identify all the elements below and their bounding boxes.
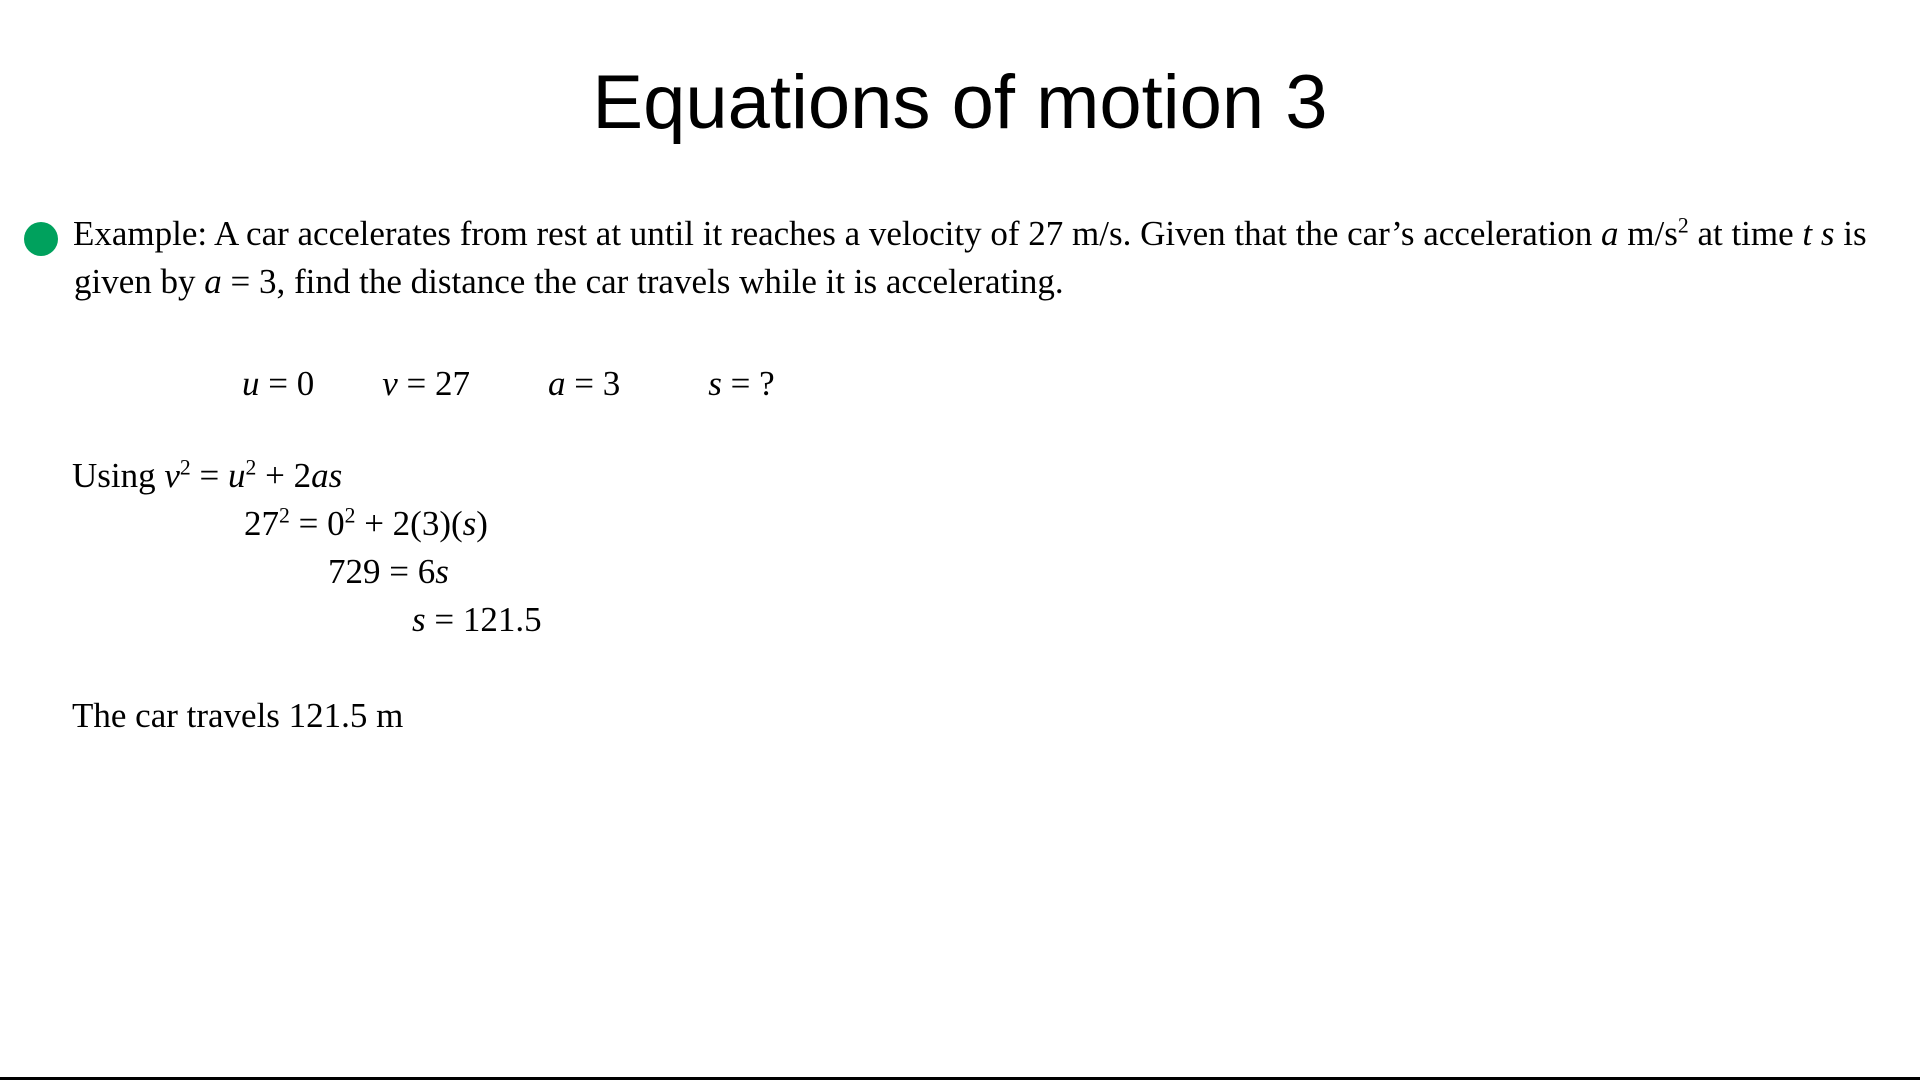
given-values-row: u = 0v = 27a = 3s = ? <box>0 360 1920 408</box>
working-v: v <box>164 456 180 495</box>
given-v: v = 27 <box>382 360 470 408</box>
given-a-value: = 3 <box>566 364 621 403</box>
working-eq-2: = 0 <box>290 504 345 543</box>
working-s-4: s <box>412 600 426 639</box>
working-close-paren: ) <box>476 504 488 543</box>
example-var-t: t s <box>1802 214 1834 253</box>
working-729: 729 = 6 <box>328 552 435 591</box>
given-v-var: v <box>382 364 398 403</box>
working-line-2: 272 = 02 + 2(3)(s) <box>244 500 1920 548</box>
example-bullet-item: Example: A car accelerates from rest at … <box>0 210 1920 306</box>
given-s-var: s <box>708 364 722 403</box>
conclusion-text: The car travels 121.5 m <box>72 692 403 740</box>
example-text-part-3: at time <box>1689 214 1803 253</box>
working-using-label: Using <box>72 456 164 495</box>
working-0-sup: 2 <box>345 503 356 527</box>
example-sup-2-1: 2 <box>1678 213 1689 237</box>
example-var-a-2: a <box>204 262 222 301</box>
slide-canvas: Equations of motion 3 Example: A car acc… <box>0 0 1920 1080</box>
given-u: u = 0 <box>242 360 314 408</box>
example-var-a-1: a <box>1601 214 1619 253</box>
working-eq-1: = <box>191 456 228 495</box>
working-v-sup: 2 <box>180 455 191 479</box>
given-a-var: a <box>548 364 566 403</box>
example-text-part-5: = 3, find the distance the car travels w… <box>222 262 1064 301</box>
working-line-3: 729 = 6s <box>328 548 1920 596</box>
working-u: u <box>228 456 246 495</box>
given-v-value: = 27 <box>398 364 470 403</box>
working-s-2: s <box>463 504 477 543</box>
given-a: a = 3 <box>548 360 620 408</box>
green-circle-bullet-icon <box>24 222 58 256</box>
working-line-1: Using v2 = u2 + 2as <box>72 452 1920 500</box>
slide-body: Example: A car accelerates from rest at … <box>0 210 1920 306</box>
working-plus-2: + 2(3)( <box>355 504 462 543</box>
working-u-sup: 2 <box>246 455 257 479</box>
working-s-value: = 121.5 <box>426 600 542 639</box>
page-title: Equations of motion 3 <box>0 58 1920 148</box>
working-as: as <box>311 456 342 495</box>
working-plus-1: + 2 <box>256 456 311 495</box>
working-s-3: s <box>435 552 449 591</box>
working-line-4: s = 121.5 <box>412 596 1920 644</box>
working-lhs-27: 27 <box>244 504 279 543</box>
given-values-inner: u = 0v = 27a = 3s = ? <box>242 360 1920 408</box>
given-u-value: = 0 <box>260 364 315 403</box>
example-paragraph: Example: A car accelerates from rest at … <box>74 210 1906 306</box>
given-s-value: = ? <box>722 364 775 403</box>
given-s: s = ? <box>708 360 774 408</box>
working-27-sup: 2 <box>279 503 290 527</box>
given-u-var: u <box>242 364 260 403</box>
example-text-part-1: Example: A car accelerates from rest at … <box>73 214 1601 253</box>
working-steps: Using v2 = u2 + 2as 272 = 02 + 2(3)(s) 7… <box>0 452 1920 644</box>
example-text-part-2: m/s <box>1619 214 1678 253</box>
